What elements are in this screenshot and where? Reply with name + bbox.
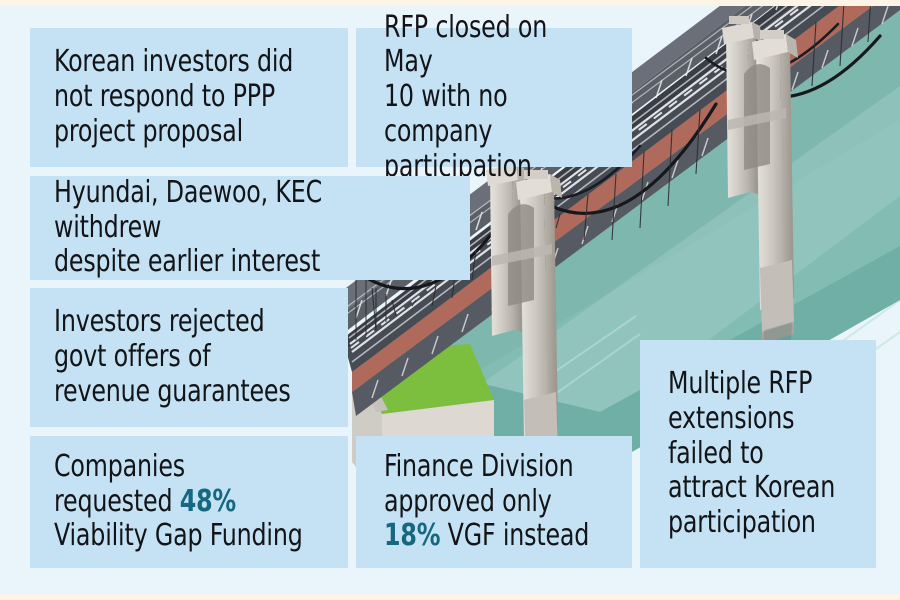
top-edge-band (0, 0, 900, 6)
panel-hyundai-daewoo-kec: Hyundai, Daewoo, KEC withdrew despite ea… (30, 176, 470, 280)
panel-vgf-approved-text-before: Finance Division approved only (384, 449, 574, 519)
panel-korean-investors: Korean investors did not respond to PPP … (30, 28, 348, 167)
panel-vgf-requested-text: Companies requested 48% Viability Gap Fu… (54, 450, 303, 554)
vgf-requested-percent: 48% (180, 484, 236, 519)
panel-vgf-requested-text-before: Companies requested (54, 449, 185, 519)
vgf-approved-percent: 18% (384, 518, 440, 553)
panel-vgf-approved-text-after: VGF instead (440, 518, 589, 553)
panel-rfp-extensions: Multiple RFP extensions failed to attrac… (640, 340, 876, 568)
panel-revenue-guarantees-text: Investors rejected govt offers of revenu… (54, 305, 291, 409)
panel-rfp-closed-text: RFP closed on May 10 with no company par… (384, 11, 602, 185)
bottom-edge-band (0, 594, 900, 600)
panel-vgf-requested: Companies requested 48% Viability Gap Fu… (30, 436, 348, 568)
panel-rfp-closed: RFP closed on May 10 with no company par… (356, 28, 632, 167)
fact-panels-group: Korean investors did not respond to PPP … (0, 0, 900, 600)
panel-korean-investors-text: Korean investors did not respond to PPP … (54, 45, 293, 149)
panel-revenue-guarantees: Investors rejected govt offers of revenu… (30, 288, 348, 427)
panel-vgf-approved: Finance Division approved only 18% VGF i… (356, 436, 632, 568)
panel-rfp-extensions-text: Multiple RFP extensions failed to attrac… (668, 367, 835, 541)
infographic-root: Korean investors did not respond to PPP … (0, 0, 900, 600)
panel-vgf-requested-text-after: Viability Gap Funding (54, 518, 303, 553)
panel-vgf-approved-text: Finance Division approved only 18% VGF i… (384, 450, 589, 554)
panel-hyundai-daewoo-kec-text: Hyundai, Daewoo, KEC withdrew despite ea… (54, 176, 420, 280)
